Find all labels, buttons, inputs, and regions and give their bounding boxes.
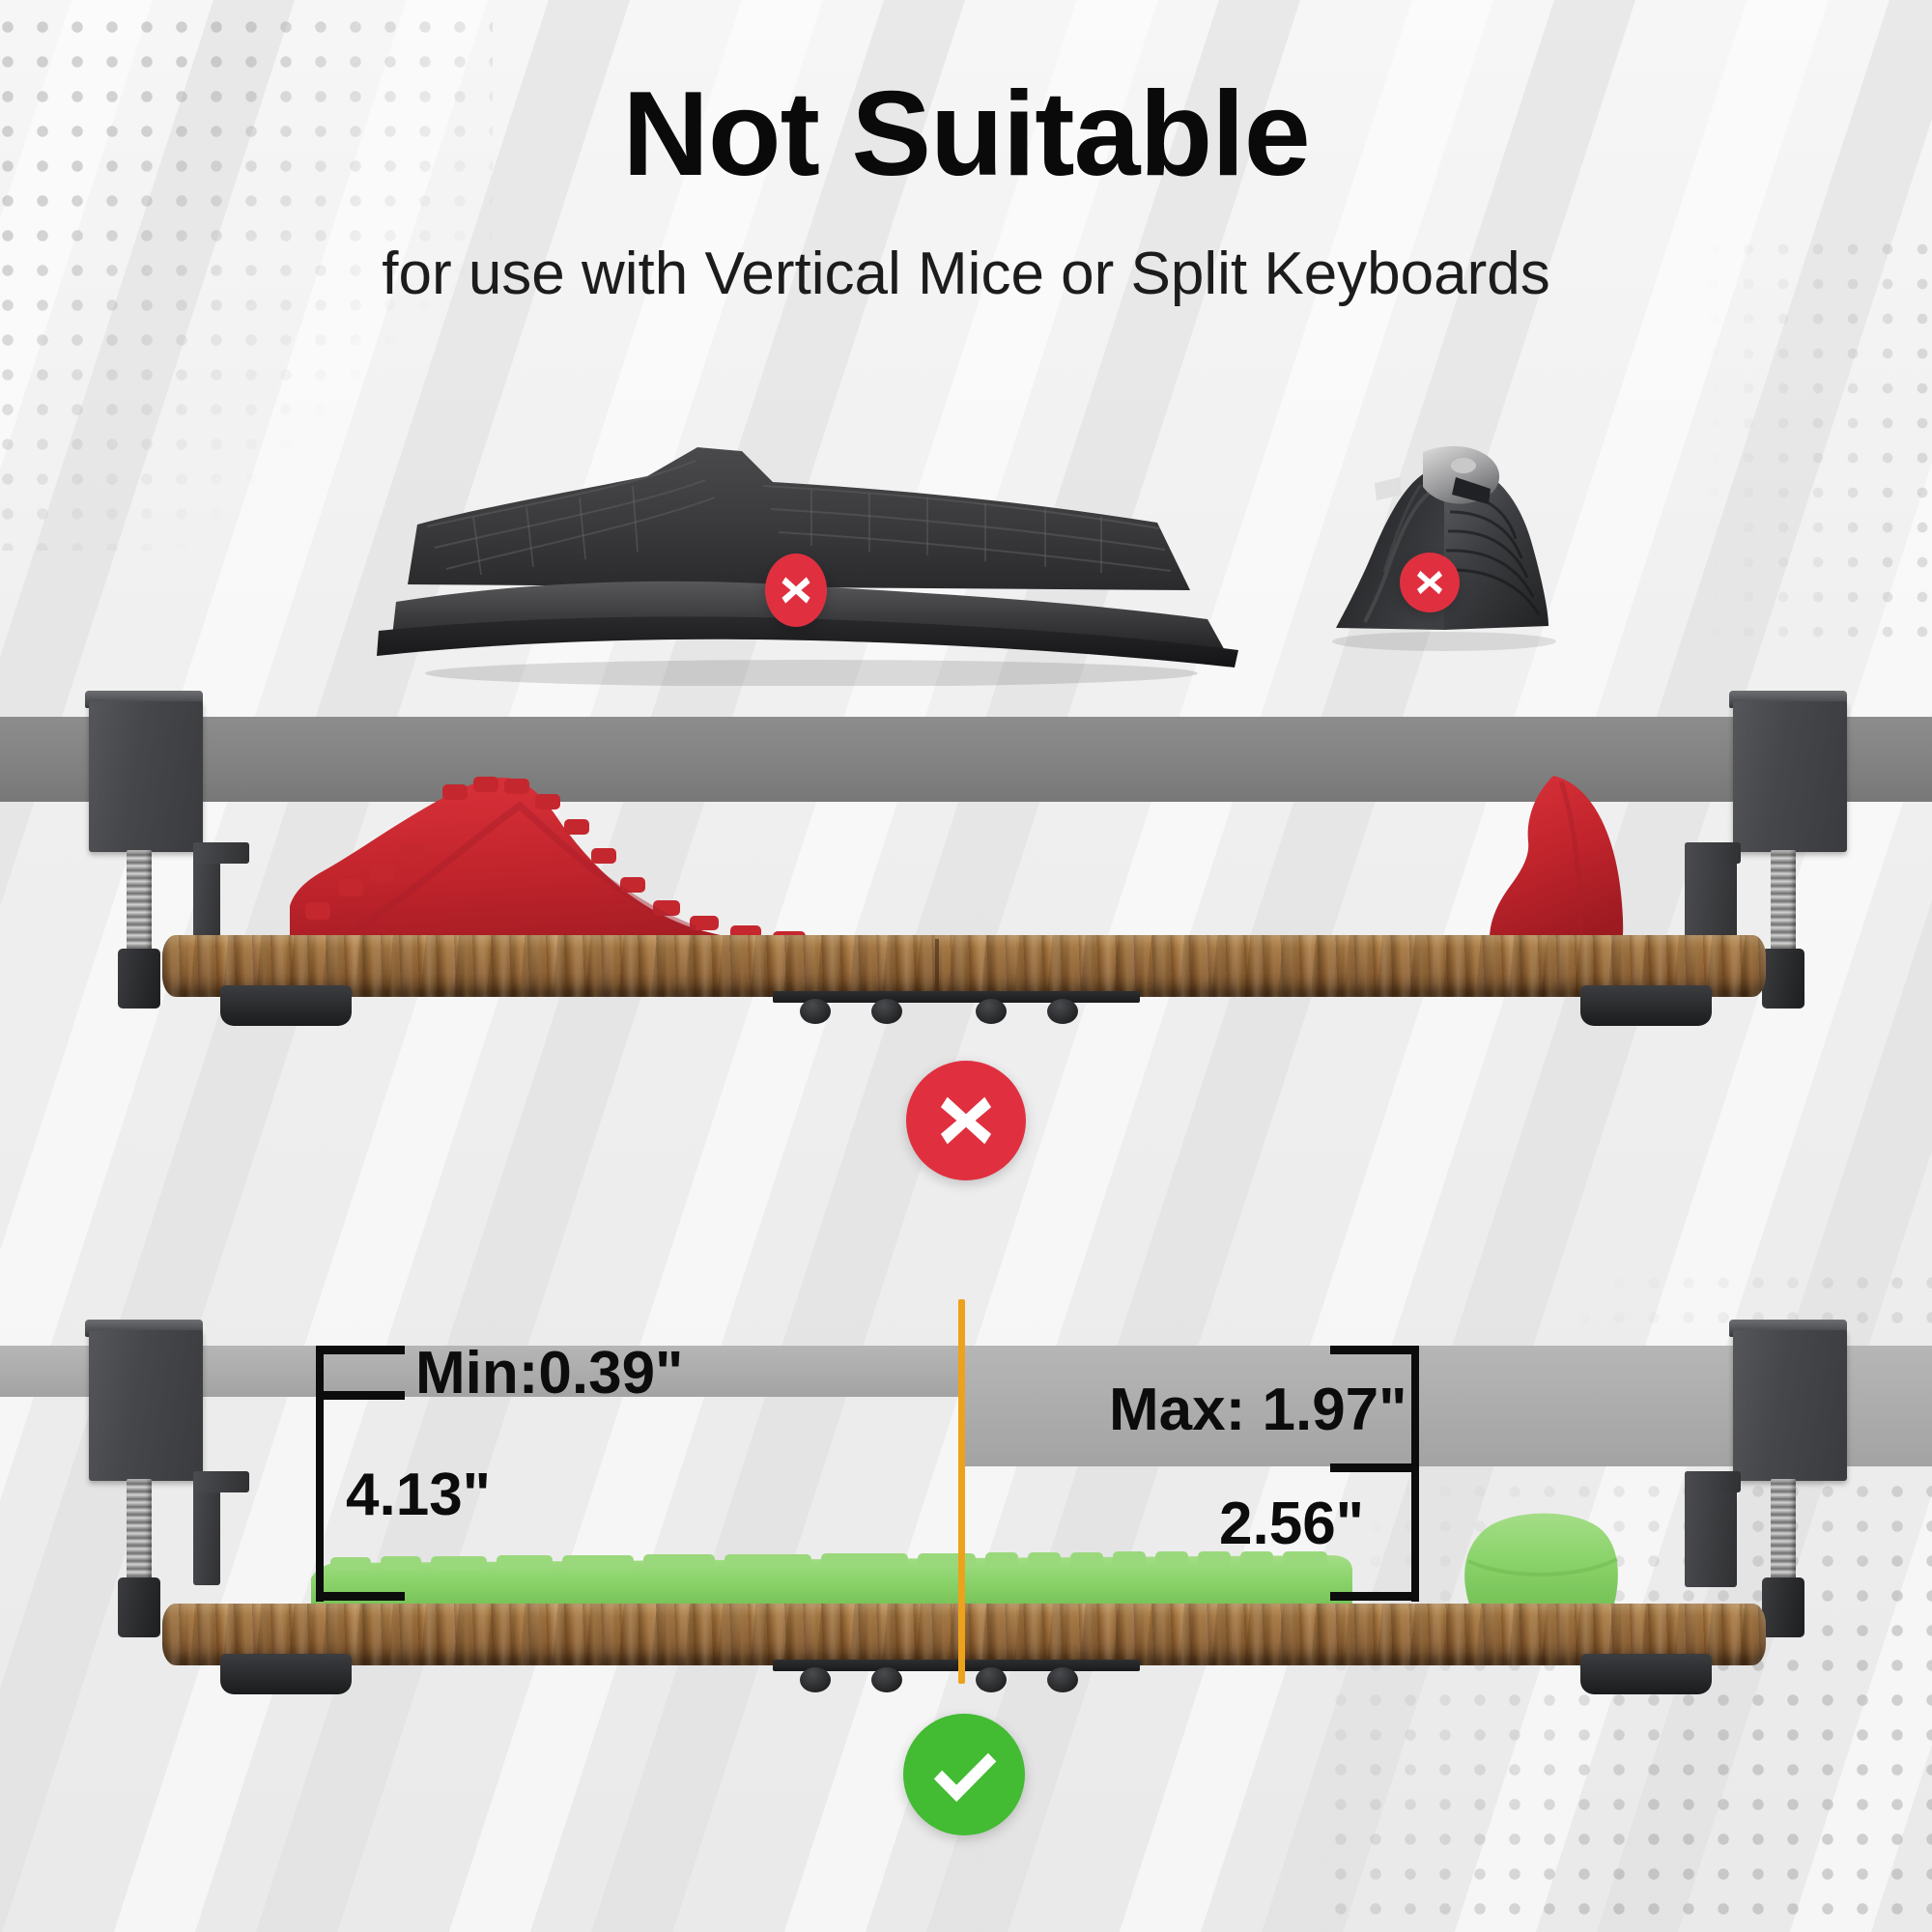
dimension-label-min: Min:0.39" bbox=[415, 1339, 683, 1407]
x-mark-icon bbox=[778, 572, 814, 609]
x-mark-icon bbox=[933, 1088, 999, 1153]
page-title: Not Suitable bbox=[0, 71, 1932, 197]
tray-peg bbox=[871, 1667, 902, 1692]
tray-peg bbox=[1047, 1667, 1078, 1692]
vertical-mouse-photo bbox=[1299, 406, 1599, 676]
dimension-label-clearance-right: 2.56" bbox=[1219, 1490, 1364, 1558]
tray-peg bbox=[976, 1667, 1007, 1692]
tray-rail-middle bbox=[773, 991, 1140, 1003]
verdict-badge-compatible bbox=[903, 1714, 1025, 1835]
keyboard-tray-middle bbox=[162, 935, 1766, 997]
tray-seam-middle bbox=[935, 939, 939, 995]
tray-peg bbox=[976, 999, 1007, 1024]
dimension-label-clearance-left: 4.13" bbox=[346, 1461, 491, 1529]
tray-mount-right-bottom bbox=[1580, 1654, 1712, 1694]
vertical-mouse-silhouette-red bbox=[1439, 768, 1652, 961]
infographic-canvas: Not Suitable for use with Vertical Mice … bbox=[0, 0, 1932, 1932]
tray-peg bbox=[1047, 999, 1078, 1024]
check-mark-icon bbox=[929, 1740, 999, 1809]
x-mark-icon bbox=[1413, 566, 1446, 599]
standard-keyboard-silhouette-green bbox=[311, 1544, 1354, 1611]
tray-rail-bottom bbox=[773, 1660, 1140, 1671]
tray-peg bbox=[871, 999, 902, 1024]
standard-mouse-silhouette-green bbox=[1455, 1507, 1625, 1611]
verdict-badge-incompatible bbox=[906, 1061, 1026, 1180]
reject-badge-mouse bbox=[1400, 553, 1460, 612]
tray-peg bbox=[800, 999, 831, 1024]
tray-peg bbox=[800, 1667, 831, 1692]
tray-mount-left-middle bbox=[220, 985, 352, 1026]
reject-badge-keyboard bbox=[765, 554, 827, 627]
center-reference-line bbox=[958, 1299, 965, 1684]
tray-mount-left-bottom bbox=[220, 1654, 352, 1694]
dimension-label-max: Max: 1.97" bbox=[1109, 1376, 1407, 1444]
page-subtitle: for use with Vertical Mice or Split Keyb… bbox=[0, 241, 1932, 307]
tray-mount-right-middle bbox=[1580, 985, 1712, 1026]
split-ergonomic-keyboard-photo bbox=[357, 401, 1265, 686]
